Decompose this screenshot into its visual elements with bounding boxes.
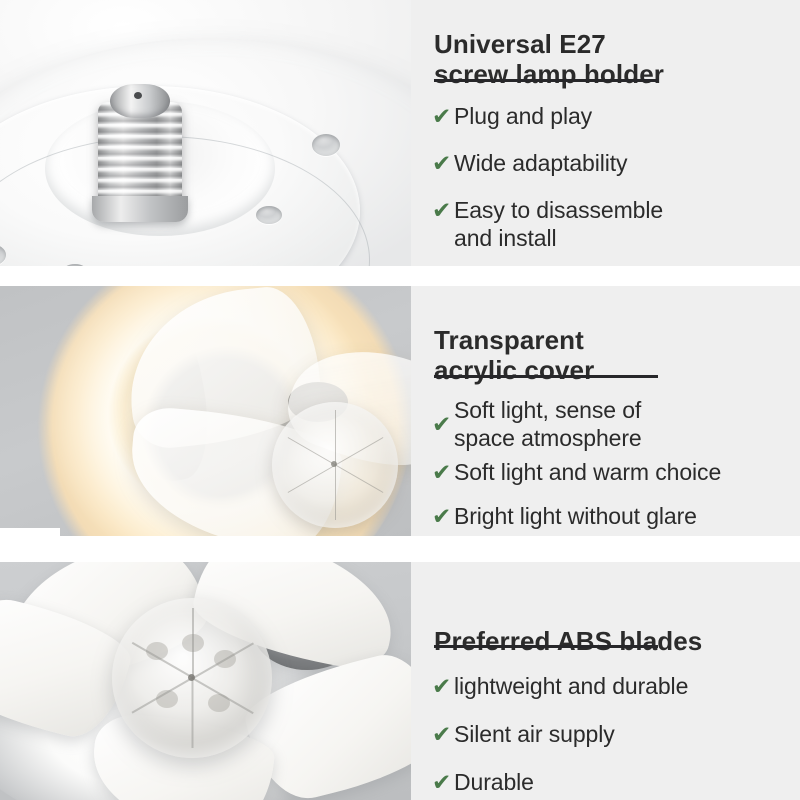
- hub-spoke: [335, 465, 336, 520]
- title-underline: [434, 645, 658, 648]
- mount-hole: [312, 134, 340, 156]
- list-item: ✔ lightweight and durable: [432, 672, 794, 700]
- list-item-label: lightweight and durable: [454, 672, 688, 700]
- e27-contact-dot: [134, 92, 142, 99]
- photo-scene: [0, 286, 411, 536]
- hub-spoke: [335, 465, 383, 493]
- list-item: ✔ Durable: [432, 768, 794, 796]
- check-icon: ✔: [432, 768, 454, 796]
- list-item-label: Soft light and warm choice: [454, 458, 721, 486]
- panel-3-bullet-list: ✔ lightweight and durable ✔ Silent air s…: [432, 672, 794, 796]
- feature-panel-acrylic-cover: Transparent acrylic cover ✔ Soft light, …: [0, 286, 800, 536]
- list-item-label: Soft light, sense of space atmosphere: [454, 396, 642, 452]
- list-item-label: Durable: [454, 768, 534, 796]
- hub-spoke: [288, 437, 336, 465]
- list-item-label: Wide adaptability: [454, 149, 627, 177]
- list-item-label: Easy to disassemble and install: [454, 196, 663, 252]
- panel-2-bullet-list: ✔ Soft light, sense of space atmosphere …: [432, 396, 794, 530]
- fan-hub: [112, 598, 272, 758]
- hub-spoke: [192, 678, 194, 748]
- list-item-label: Bright light without glare: [454, 502, 697, 530]
- check-icon: ✔: [432, 672, 454, 700]
- check-icon: ✔: [432, 720, 454, 748]
- check-icon: ✔: [432, 458, 454, 486]
- feature-panel-e27-holder: Universal E27 screw lamp holder ✔ Plug a…: [0, 0, 800, 266]
- list-item: ✔ Soft light, sense of space atmosphere: [432, 396, 794, 452]
- list-item: ✔ Easy to disassemble and install: [432, 196, 794, 252]
- e27-lamp-holder-photo: [0, 0, 411, 266]
- list-item: ✔ Silent air supply: [432, 720, 794, 748]
- check-icon: ✔: [432, 502, 454, 530]
- title-underline: [434, 79, 658, 82]
- panel-1-copy: Universal E27 screw lamp holder ✔ Plug a…: [411, 0, 800, 266]
- hub-spoke: [288, 465, 336, 493]
- title-underline: [434, 375, 658, 378]
- hub-spoke: [335, 410, 336, 465]
- list-item-label: Plug and play: [454, 102, 592, 130]
- e27-screw-base: [90, 84, 190, 222]
- list-item: ✔ Wide adaptability: [432, 149, 794, 177]
- lamp-outer-disc: [0, 38, 411, 266]
- hub-spoke: [335, 437, 383, 465]
- check-icon: ✔: [432, 410, 454, 438]
- photo-scene: [0, 0, 411, 266]
- e27-collar: [92, 196, 188, 222]
- feature-panel-abs-blades: Preferred ABS blades ✔ lightweight and d…: [0, 562, 800, 800]
- list-item: ✔ Soft light and warm choice: [432, 458, 794, 486]
- lamp-inner-disc: [0, 86, 360, 266]
- photo-bottom-strip: [0, 528, 60, 536]
- e27-tip: [110, 84, 170, 118]
- hub-center-nub: [188, 674, 195, 681]
- list-item-label: Silent air supply: [454, 720, 615, 748]
- hub-spoke: [132, 677, 193, 713]
- photo-scene: [0, 562, 411, 800]
- check-icon: ✔: [432, 196, 454, 224]
- page-title: Preferred ABS blades: [434, 626, 702, 656]
- transparent-acrylic-cover-photo: [0, 286, 411, 536]
- list-item: ✔ Bright light without glare: [432, 502, 794, 530]
- list-item: ✔ Plug and play: [432, 102, 794, 130]
- abs-fan-blades-photo: [0, 562, 411, 800]
- hub-spoke: [192, 608, 194, 678]
- product-feature-infographic: Universal E27 screw lamp holder ✔ Plug a…: [0, 0, 800, 800]
- check-icon: ✔: [432, 102, 454, 130]
- panel-1-bullet-list: ✔ Plug and play ✔ Wide adaptability ✔ Ea…: [432, 102, 794, 252]
- fan-hub: [272, 402, 398, 528]
- panel-2-copy: Transparent acrylic cover ✔ Soft light, …: [411, 286, 800, 536]
- hub-center-nub: [331, 461, 337, 467]
- check-icon: ✔: [432, 149, 454, 177]
- panel-3-copy: Preferred ABS blades ✔ lightweight and d…: [411, 562, 800, 800]
